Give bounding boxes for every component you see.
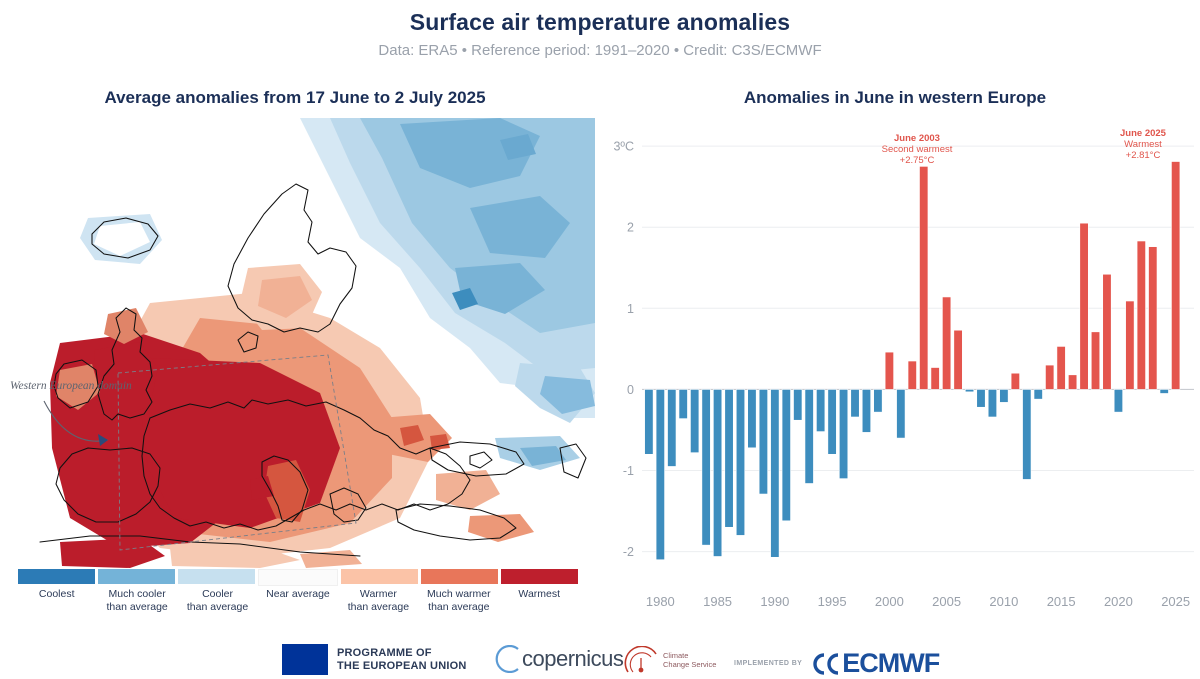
legend-label-line: Near average [259,588,336,601]
legend-label-line: Cooler [179,588,256,601]
bar-chart-graphic: 3ºC210-1-2198019851990199520002005201020… [596,118,1200,618]
c3s-line1: Climate [663,651,716,660]
xtick-label-1995: 1995 [818,594,847,609]
legend-swatch-0 [18,569,95,584]
bar-2014 [1045,365,1053,389]
ytick-label-3: 3ºC [613,140,634,154]
bar-2000 [885,352,893,389]
xtick-label-2010: 2010 [989,594,1018,609]
bar-1985 [713,389,721,556]
ytick-label--2: -2 [623,545,634,559]
ecmwf-mark-icon [808,652,842,676]
xtick-label-2005: 2005 [932,594,961,609]
bar-2013 [1034,389,1042,399]
legend-swatch-5 [421,569,498,584]
legend-label-4: Warmerthan average [340,588,417,613]
legend-label-2: Coolerthan average [179,588,256,613]
eu-programme-text: PROGRAMME OF THE EUROPEAN UNION [337,647,467,672]
legend-swatch-4 [341,569,418,584]
legend-label-line: than average [98,601,175,614]
bar-2022 [1137,241,1145,389]
annotation-2025-rank: Warmest [1088,139,1198,150]
legend-swatch-row [18,569,578,584]
bar-2009 [988,389,996,417]
annotation-2025-value: +2.81°C [1088,150,1198,161]
xtick-label-2020: 2020 [1104,594,1133,609]
bar-1991 [782,389,790,520]
bar-2015 [1057,346,1065,389]
legend-swatch-6 [501,569,578,584]
color-legend: CoolestMuch coolerthan averageCoolerthan… [18,569,578,617]
copernicus-wordmark: copernicus [522,646,623,672]
legend-label-line: Much cooler [98,588,175,601]
bar-1997 [851,389,859,417]
c3s-line2: Change Service [663,660,716,669]
xtick-label-1985: 1985 [703,594,732,609]
c3s-arc-icon [624,646,658,674]
annotation-2003-rank: Second warmest [842,144,992,155]
copernicus-logo-block: copernicus [492,645,623,673]
bar-2007 [965,389,973,391]
bar-2003 [919,166,927,389]
page-subtitle: Data: ERA5 • Reference period: 1991–2020… [0,40,1200,62]
bar-1990 [771,389,779,557]
ecmwf-logo-block: IMPLEMENTED BY ECMWF [734,648,939,679]
june-anomaly-bar-chart: 3ºC210-1-2198019851990199520002005201020… [596,118,1200,618]
ytick-label--1: -1 [623,464,634,478]
bar-1996 [839,389,847,478]
bar-1987 [736,389,744,535]
bar-1998 [862,389,870,432]
bar-2025 [1171,162,1179,390]
chart-panel-title: Anomalies in June in western Europe [600,88,1190,108]
bar-2023 [1149,247,1157,390]
annotation-2025-year: June 2025 [1088,128,1198,139]
eu-line1: PROGRAMME OF [337,647,467,660]
legend-label-6: Warmest [501,588,578,613]
bar-2011 [1011,373,1019,389]
ecmwf-wordmark: ECMWF [842,648,939,679]
map-graphic [0,118,595,568]
bar-1984 [702,389,710,545]
bar-2010 [1000,389,1008,402]
bar-2021 [1126,301,1134,389]
xtick-label-1990: 1990 [760,594,789,609]
bar-1988 [748,389,756,447]
bar-2018 [1091,332,1099,390]
eu-logo-block: PROGRAMME OF THE EUROPEAN UNION [282,644,467,675]
bar-2006 [954,330,962,389]
bar-1992 [794,389,802,420]
ytick-label-1: 1 [627,302,634,316]
bar-2012 [1023,389,1031,479]
xtick-label-2025: 2025 [1161,594,1190,609]
legend-label-5: Much warmerthan average [420,588,497,613]
header: Surface air temperature anomalies Data: … [0,8,1200,62]
page-title: Surface air temperature anomalies [0,8,1200,36]
legend-label-3: Near average [259,588,336,613]
europe-anomaly-map: Western European domain [0,118,595,568]
legend-label-0: Coolest [18,588,95,613]
eu-line2: THE EUROPEAN UNION [337,660,467,673]
legend-label-line: than average [340,601,417,614]
bar-2024 [1160,389,1168,393]
copernicus-swoosh-icon [492,645,522,673]
legend-label-line: Warmest [501,588,578,601]
bar-2005 [942,297,950,389]
implemented-by-text: IMPLEMENTED BY [734,660,802,667]
legend-swatch-1 [98,569,175,584]
bar-2004 [931,368,939,390]
bar-1981 [668,389,676,466]
annotation-june-2003: June 2003 Second warmest +2.75°C [842,133,992,166]
legend-label-line: Much warmer [420,588,497,601]
bar-1983 [690,389,698,452]
bar-2020 [1114,389,1122,412]
bar-1982 [679,389,687,418]
legend-label-line: Warmer [340,588,417,601]
legend-label-line: than average [179,601,256,614]
bar-1995 [828,389,836,454]
bar-2002 [908,361,916,389]
western-european-domain-label: Western European domain [10,380,132,392]
c3s-logo-block: Climate Change Service [624,646,716,674]
bar-1994 [816,389,824,431]
annotation-2003-value: +2.75°C [842,155,992,166]
bar-1986 [725,389,733,527]
ytick-label-2: 2 [627,221,634,235]
bar-2016 [1068,375,1076,390]
eu-flag-icon [282,644,328,675]
c3s-text: Climate Change Service [663,651,716,669]
bar-1999 [874,389,882,412]
footer-logos: PROGRAMME OF THE EUROPEAN UNION copernic… [0,644,1200,675]
bar-2019 [1103,274,1111,389]
xtick-label-2000: 2000 [875,594,904,609]
bar-1993 [805,389,813,483]
annotation-2003-year: June 2003 [842,133,992,144]
xtick-label-1980: 1980 [646,594,675,609]
bar-1980 [656,389,664,559]
bar-2001 [897,389,905,438]
annotation-june-2025: June 2025 Warmest +2.81°C [1088,128,1198,161]
bar-2008 [977,389,985,407]
legend-label-line: than average [420,601,497,614]
legend-label-1: Much coolerthan average [98,588,175,613]
bar-1989 [759,389,767,494]
legend-swatch-2 [178,569,255,584]
legend-label-row: CoolestMuch coolerthan averageCoolerthan… [18,588,578,613]
xtick-label-2015: 2015 [1047,594,1076,609]
bar-1979 [645,389,653,454]
bar-2017 [1080,223,1088,389]
legend-swatch-3 [258,569,337,586]
ytick-label-0: 0 [627,383,634,397]
legend-label-line: Coolest [18,588,95,601]
map-panel-title: Average anomalies from 17 June to 2 July… [10,88,580,108]
